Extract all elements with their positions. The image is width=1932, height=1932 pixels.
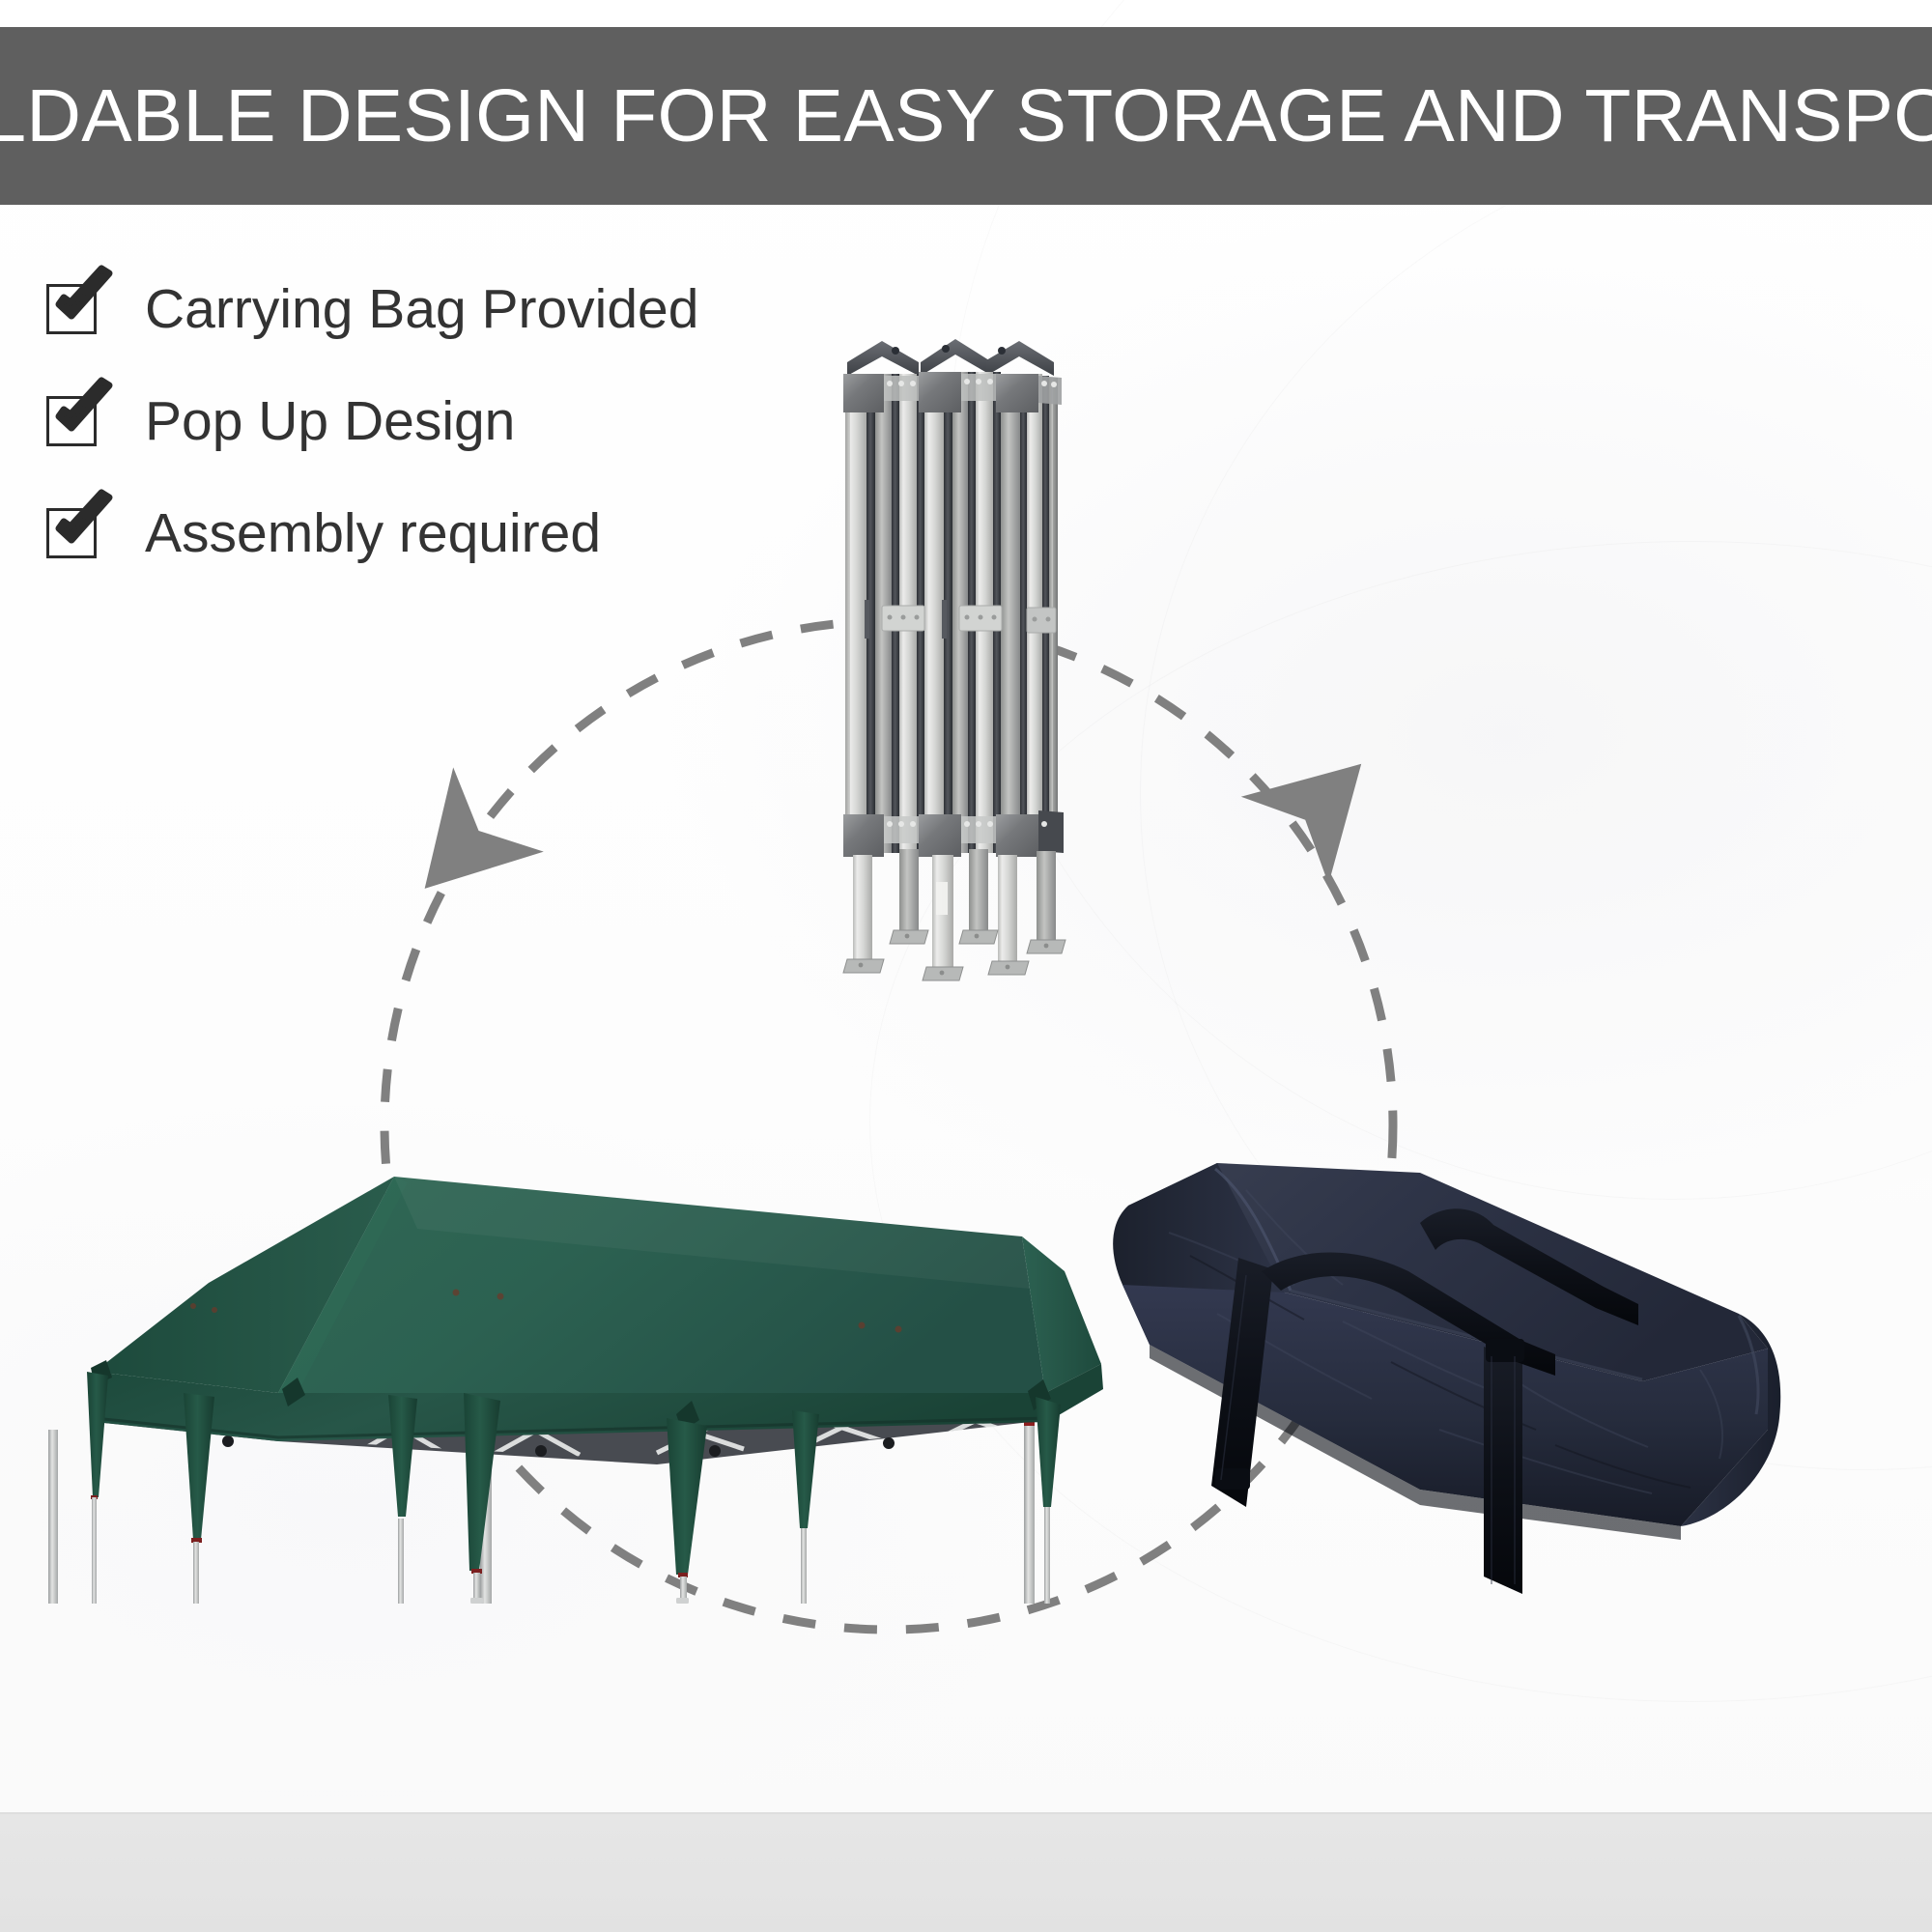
green-gazebo bbox=[39, 1082, 1111, 1604]
folded-frame bbox=[826, 333, 1077, 1009]
checkbox-checked-icon bbox=[46, 284, 97, 334]
feature-list: Carrying Bag Provided Pop Up Design Asse… bbox=[44, 253, 914, 589]
checkbox-checked-icon bbox=[46, 396, 97, 446]
canopy-leg bbox=[464, 1393, 500, 1604]
frame-top-hinges bbox=[847, 339, 1054, 376]
arrow-clockwise-right bbox=[1241, 721, 1406, 885]
frame-poles bbox=[845, 372, 1058, 853]
list-item-label: Carrying Bag Provided bbox=[145, 282, 698, 337]
frame-legs bbox=[853, 849, 1056, 967]
list-item: Assembly required bbox=[44, 477, 914, 589]
page-title: FOLDABLE DESIGN FOR EASY STORAGE AND TRA… bbox=[0, 79, 1932, 154]
canopy-leg bbox=[667, 1418, 707, 1604]
carry-bag bbox=[1101, 1140, 1806, 1604]
arrow-counterclockwise-left bbox=[380, 767, 544, 930]
frame-top-brackets bbox=[843, 372, 1062, 412]
list-item-label: Assembly required bbox=[145, 506, 601, 561]
canopy-leg bbox=[388, 1395, 417, 1604]
canopy-leg bbox=[792, 1410, 819, 1604]
list-item: Pop Up Design bbox=[44, 365, 914, 477]
header-bar: FOLDABLE DESIGN FOR EASY STORAGE AND TRA… bbox=[0, 27, 1932, 205]
list-item: Carrying Bag Provided bbox=[44, 253, 914, 365]
infographic-canvas: FOLDABLE DESIGN FOR EASY STORAGE AND TRA… bbox=[0, 0, 1932, 1932]
canopy-leg bbox=[87, 1372, 108, 1604]
list-item-label: Pop Up Design bbox=[145, 394, 515, 449]
bag-strap-band bbox=[1484, 1347, 1522, 1594]
canopy-roof bbox=[91, 1177, 1103, 1441]
checkbox-checked-icon bbox=[46, 508, 97, 558]
frame-bottom-brackets bbox=[843, 810, 1064, 857]
canopy-leg bbox=[184, 1393, 214, 1604]
canopy-leg bbox=[1036, 1397, 1061, 1604]
bottom-band bbox=[0, 1812, 1932, 1932]
frame-feet bbox=[843, 930, 1065, 980]
